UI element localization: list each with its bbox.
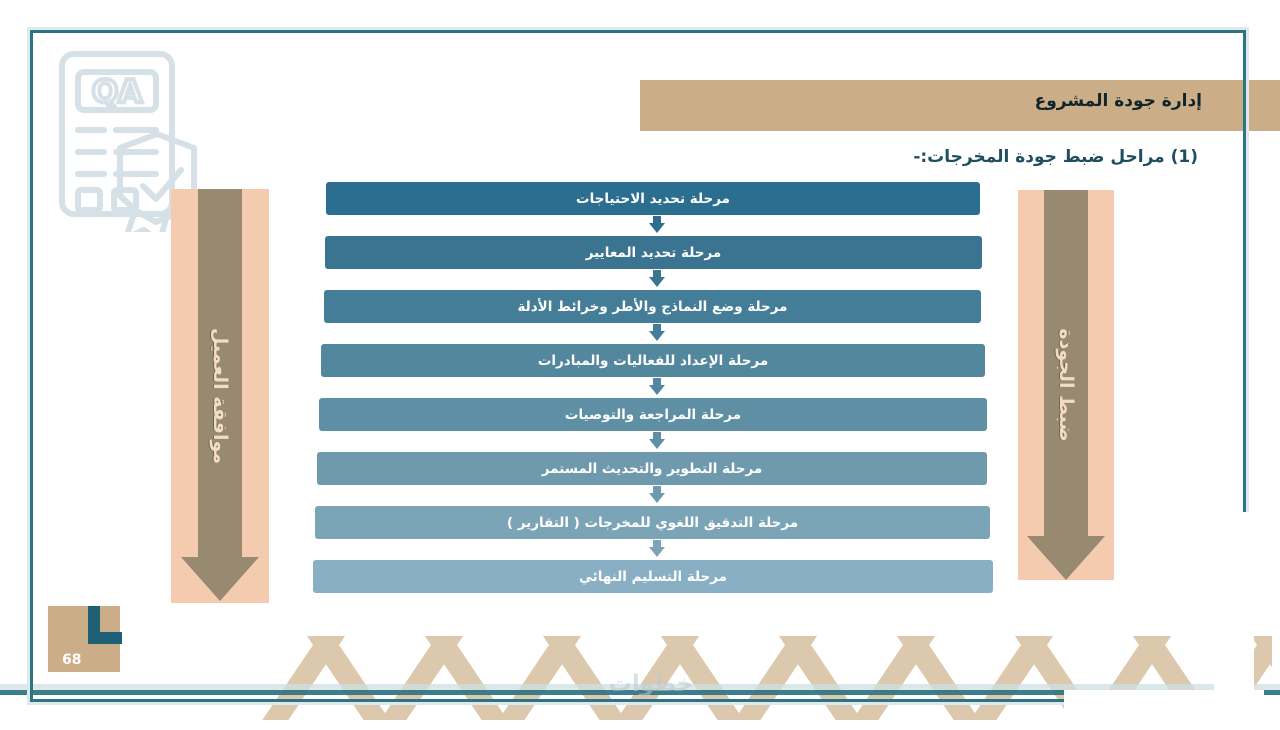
connector-head xyxy=(649,547,665,557)
chevron-shape xyxy=(852,636,984,720)
side-arrow-client-approval: موافقة العميل xyxy=(171,189,269,603)
connector-head xyxy=(649,223,665,233)
stage-row: مرحلة المراجعة والتوصيات xyxy=(300,398,1000,432)
stage-row: مرحلة وضع النماذج والأطر وخرائط الأدلة xyxy=(300,290,1000,324)
quality-stages-flowchart: مرحلة تحديد الاحتياجاتمرحلة تحديد المعاي… xyxy=(300,182,1000,592)
stage-bar[interactable]: مرحلة تحديد الاحتياجات xyxy=(326,182,980,215)
side-arrow-quality-control: ضبط الجودة xyxy=(1018,190,1114,580)
stage-bar[interactable]: مرحلة المراجعة والتوصيات xyxy=(319,398,987,431)
stage-connector-arrow-icon xyxy=(649,216,665,233)
connector-head xyxy=(649,439,665,449)
stage-bar[interactable]: مرحلة التسليم النهائي xyxy=(313,560,993,593)
stage-row: مرحلة التسليم النهائي xyxy=(300,560,1000,594)
chevron-shape xyxy=(380,636,512,720)
stage-bar[interactable]: مرحلة تحديد المعايير xyxy=(325,236,982,269)
stage-bar[interactable]: مرحلة الإعداد للفعاليات والمبادرات xyxy=(321,344,985,377)
arrow-head xyxy=(1027,536,1105,580)
arrow-head xyxy=(181,557,259,601)
stage-connector-arrow-icon xyxy=(649,486,665,503)
stage-connector-arrow-icon xyxy=(649,540,665,557)
stage-row: مرحلة الإعداد للفعاليات والمبادرات xyxy=(300,344,1000,378)
frame-right-mask xyxy=(1214,512,1254,712)
page-subtitle: (1) مراحل ضبط جودة المخرجات:- xyxy=(913,147,1198,167)
corner-decoration-icon xyxy=(88,606,122,644)
connector-head xyxy=(649,385,665,395)
stage-row: مرحلة التطوير والتحديث المستمر xyxy=(300,452,1000,486)
stage-connector-arrow-icon xyxy=(649,270,665,287)
stage-connector-arrow-icon xyxy=(649,324,665,341)
connector-head xyxy=(649,277,665,287)
stage-connector-arrow-icon xyxy=(649,378,665,395)
stage-connector-arrow-icon xyxy=(649,432,665,449)
stage-row: مرحلة التدقيق اللغوي للمخرجات ( التقارير… xyxy=(300,506,1000,540)
connector-head xyxy=(649,493,665,503)
stage-bar[interactable]: مرحلة التطوير والتحديث المستمر xyxy=(317,452,987,485)
bottom-watermark-text: خطوات xyxy=(546,664,756,704)
stage-bar[interactable]: مرحلة وضع النماذج والأطر وخرائط الأدلة xyxy=(324,290,981,323)
stage-row: مرحلة تحديد الاحتياجات xyxy=(300,182,1000,216)
stage-row: مرحلة تحديد المعايير xyxy=(300,236,1000,270)
connector-head xyxy=(649,331,665,341)
stage-bar[interactable]: مرحلة التدقيق اللغوي للمخرجات ( التقارير… xyxy=(315,506,990,539)
chevron-shape xyxy=(262,636,394,720)
side-arrow-left-label: موافقة العميل xyxy=(209,328,231,464)
page-number: 68 xyxy=(48,648,134,672)
qa-logo-text: QA xyxy=(92,74,142,110)
page-title: إدارة جودة المشروع xyxy=(1035,91,1202,111)
frame-bottom-right-mask xyxy=(1064,690,1264,730)
side-arrow-right-label: ضبط الجودة xyxy=(1055,328,1077,441)
